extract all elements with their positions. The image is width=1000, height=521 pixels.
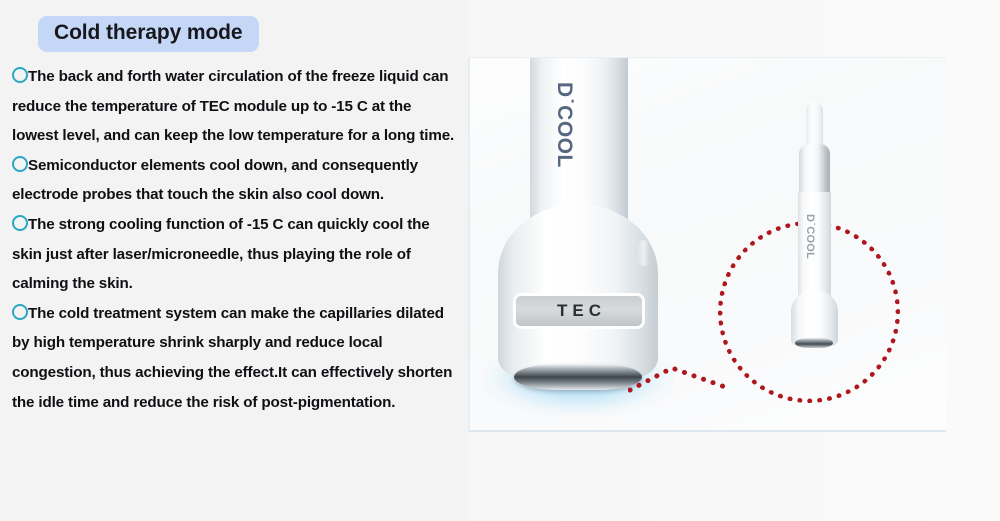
callout-leader-line [628, 364, 732, 394]
list-item: Semiconductor elements cool down, and co… [12, 151, 460, 210]
brand-logo-large: D˙COOL [550, 82, 576, 172]
tec-label: TEC [552, 301, 606, 321]
bullet-circle-icon [12, 304, 28, 320]
list-item-text: Semiconductor elements cool down, and co… [12, 157, 418, 204]
device-small-illustration: D˙COOL [788, 102, 840, 364]
arrow-up-icon [595, 259, 621, 293]
text-column: Cold therapy mode The back and forth wat… [0, 0, 468, 521]
arrow-down-icon [539, 332, 565, 366]
list-item-text: The strong cooling function of -15 C can… [12, 216, 430, 292]
device-barrel [530, 57, 628, 224]
heat-up-arrows [524, 259, 636, 293]
cold-down-arrows [524, 332, 636, 366]
small-device-chrome-ring [795, 338, 833, 348]
device-side-button [638, 240, 650, 266]
product-image-panel: D˙COOL TEC D˙COOL [468, 57, 946, 432]
small-device-collar [799, 144, 830, 196]
bullet-circle-icon [12, 156, 28, 172]
page-root: Cold therapy mode The back and forth wat… [0, 0, 1000, 521]
list-item-text: The cold treatment system can make the c… [12, 305, 452, 411]
arrow-down-icon [595, 332, 621, 366]
device-chrome-ring [514, 364, 642, 390]
list-item: The strong cooling function of -15 C can… [12, 210, 460, 299]
list-item: The back and forth water circulation of … [12, 62, 460, 151]
arrow-up-icon [539, 259, 565, 293]
tec-module-plate: TEC [516, 296, 642, 326]
bullet-circle-icon [12, 215, 28, 231]
list-item: The cold treatment system can make the c… [12, 299, 460, 417]
list-item-text: The back and forth water circulation of … [12, 68, 454, 144]
device-large-illustration: D˙COOL TEC [498, 57, 658, 404]
mode-badge: Cold therapy mode [38, 16, 259, 52]
bullet-list: The back and forth water circulation of … [12, 62, 460, 417]
brand-logo-small: D˙COOL [802, 214, 816, 266]
bullet-circle-icon [12, 67, 28, 83]
